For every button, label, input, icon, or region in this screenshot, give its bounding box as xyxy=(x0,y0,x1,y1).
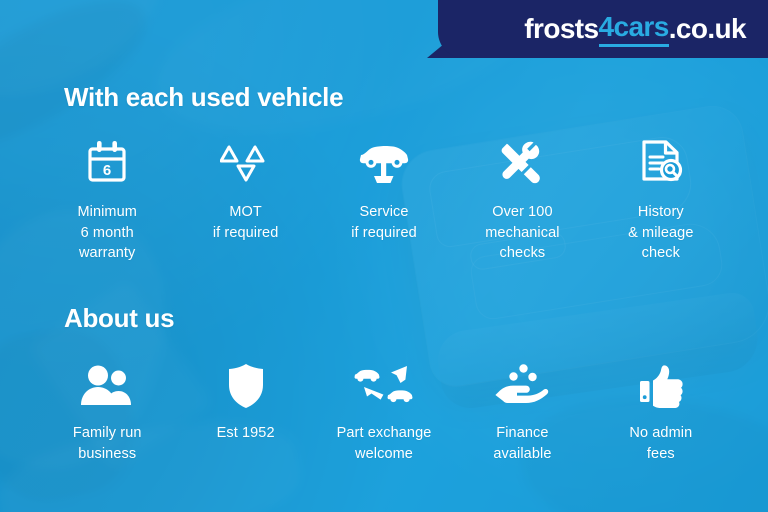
thumbs-up-icon xyxy=(637,357,685,409)
feature-label: Est 1952 xyxy=(217,423,275,444)
feature-label: History & mileage check xyxy=(628,202,693,264)
car-on-lift-icon xyxy=(355,136,413,188)
brand-logo[interactable]: frosts4cars.co.uk xyxy=(524,0,746,58)
calendar-6-icon: 6 xyxy=(82,136,132,188)
mot-triangles-icon xyxy=(220,136,272,188)
feature-item-no-admin-fees[interactable]: No admin fees xyxy=(592,357,730,464)
hand-coins-icon xyxy=(493,357,551,409)
feature-label: Finance available xyxy=(493,423,551,464)
section-title-with-each-used-vehicle: With each used vehicle xyxy=(64,82,343,113)
feature-item-service[interactable]: Service if required xyxy=(315,136,453,264)
feature-label: Part exchange welcome xyxy=(337,423,432,464)
header-banner: frosts4cars.co.uk xyxy=(438,0,768,58)
feature-label: Over 100 mechanical checks xyxy=(485,202,559,264)
logo-text-4cars: 4cars xyxy=(599,11,669,47)
logo-text-domain: .co.uk xyxy=(669,13,746,45)
feature-row-used-vehicle: 6 Minimum 6 month warranty MOT if requir… xyxy=(38,136,730,264)
feature-item-mot[interactable]: MOT if required xyxy=(176,136,314,264)
feature-item-minimum-warranty[interactable]: 6 Minimum 6 month warranty xyxy=(38,136,176,264)
shield-icon xyxy=(227,357,265,409)
feature-label: Family run business xyxy=(73,423,142,464)
feature-row-about-us: Family run business Est 1952 xyxy=(38,357,730,464)
logo-text-frosts: frosts xyxy=(524,13,598,45)
calendar-badge-number: 6 xyxy=(103,162,111,179)
wrench-screwdriver-icon xyxy=(497,136,547,188)
feature-item-family-run[interactable]: Family run business xyxy=(38,357,176,464)
feature-label: MOT if required xyxy=(213,202,279,243)
two-people-icon xyxy=(79,357,135,409)
document-search-icon xyxy=(636,136,686,188)
page-content: With each used vehicle 6 Minimum 6 month… xyxy=(0,0,768,512)
feature-item-finance[interactable]: Finance available xyxy=(453,357,591,464)
feature-label: No admin fees xyxy=(629,423,692,464)
car-exchange-icon xyxy=(351,357,417,409)
feature-label: Minimum 6 month warranty xyxy=(77,202,137,264)
feature-label: Service if required xyxy=(351,202,417,243)
feature-item-history-mileage[interactable]: History & mileage check xyxy=(592,136,730,264)
feature-item-mechanical-checks[interactable]: Over 100 mechanical checks xyxy=(453,136,591,264)
feature-item-est-1952[interactable]: Est 1952 xyxy=(176,357,314,464)
feature-item-part-exchange[interactable]: Part exchange welcome xyxy=(315,357,453,464)
section-title-about-us: About us xyxy=(64,303,174,334)
